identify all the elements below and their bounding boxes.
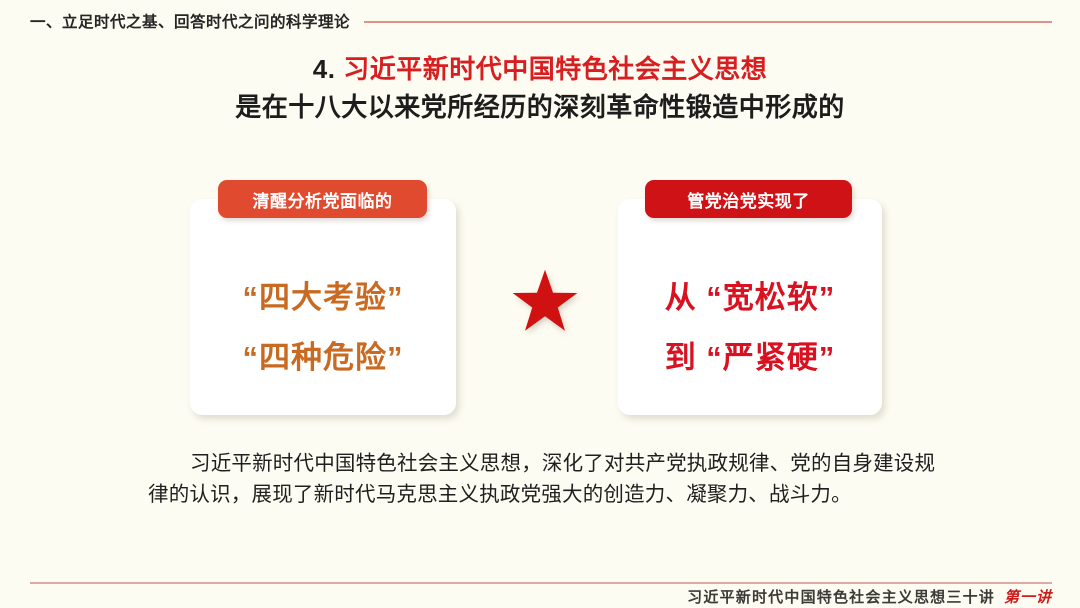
card-left-badge: 清醒分析党面临的 bbox=[218, 180, 427, 218]
footer-lecture-label: 第一讲 bbox=[1004, 586, 1052, 607]
footer-series-title: 习近平新时代中国特色社会主义思想三十讲 bbox=[687, 586, 995, 607]
title-line-1: 4. 习近平新时代中国特色社会主义思想 bbox=[0, 52, 1080, 86]
slide-header: 一、立足时代之基、回答时代之问的科学理论 bbox=[30, 6, 1052, 36]
card-left-body: “四大考验” “四种危险” bbox=[190, 241, 456, 415]
card-right-line-2: 到 “严紧硬” bbox=[665, 340, 836, 376]
title-number: 4. bbox=[313, 54, 336, 84]
slide-canvas: 一、立足时代之基、回答时代之问的科学理论 4. 习近平新时代中国特色社会主义思想… bbox=[0, 0, 1080, 608]
header-divider-rule bbox=[364, 21, 1052, 22]
body-paragraph: 习近平新时代中国特色社会主义思想，深化了对共产党执政规律、党的自身建设规律的认识… bbox=[148, 448, 938, 510]
card-left-line-2: “四种危险” bbox=[243, 340, 404, 376]
slide-footer: 习近平新时代中国特色社会主义思想三十讲 第一讲 bbox=[687, 586, 1052, 607]
card-right-badge: 管党治党实现了 bbox=[645, 180, 852, 218]
card-right-body: 从 “宽松软” 到 “严紧硬” bbox=[618, 241, 882, 415]
page-title: 4. 习近平新时代中国特色社会主义思想 是在十八大以来党所经历的深刻革命性锻造中… bbox=[0, 52, 1080, 124]
card-right: 从 “宽松软” 到 “严紧硬” bbox=[618, 199, 882, 415]
title-line-2: 是在十八大以来党所经历的深刻革命性锻造中形成的 bbox=[0, 90, 1080, 124]
title-highlight: 习近平新时代中国特色社会主义思想 bbox=[343, 54, 767, 84]
card-left: “四大考验” “四种危险” bbox=[190, 199, 456, 415]
section-heading: 一、立足时代之基、回答时代之问的科学理论 bbox=[30, 10, 350, 32]
footer-divider-rule bbox=[30, 582, 1052, 584]
card-left-line-1: “四大考验” bbox=[243, 280, 404, 316]
red-star-icon bbox=[511, 268, 579, 334]
card-right-line-1: 从 “宽松软” bbox=[665, 280, 836, 316]
